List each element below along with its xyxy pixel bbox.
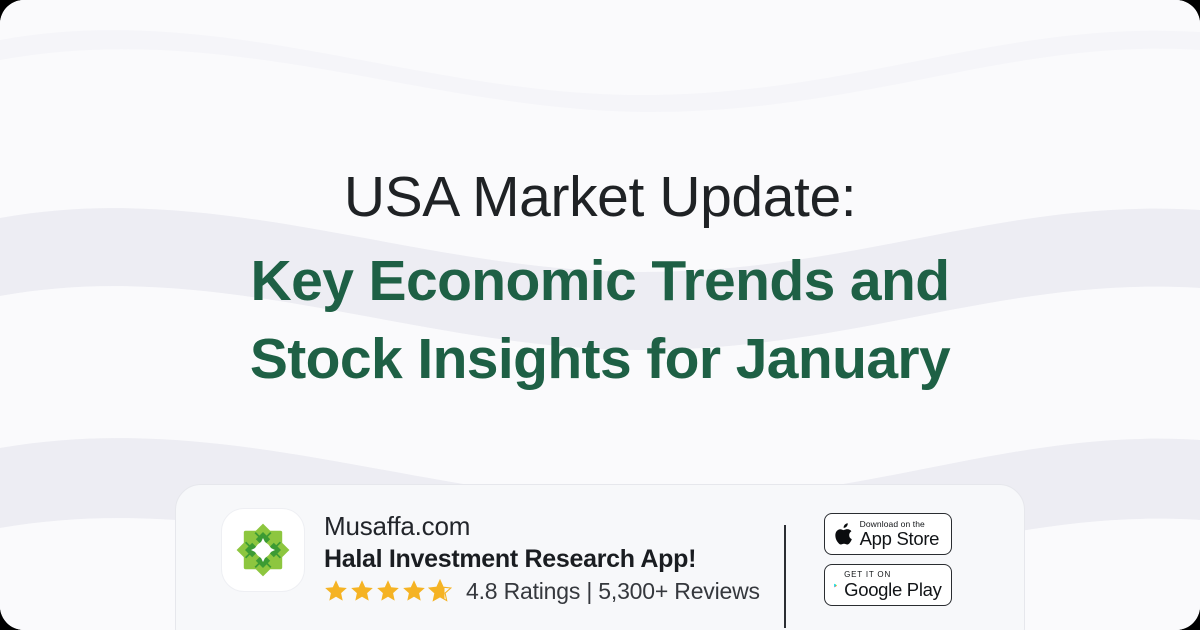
google-play-badge-text: GET IT ON Google Play bbox=[844, 571, 941, 599]
rating-row: 4.8 Ratings | 5,300+ Reviews bbox=[324, 578, 760, 605]
star-rating-icon bbox=[324, 579, 457, 604]
headline-line-1: USA Market Update: bbox=[100, 166, 1100, 230]
app-promo-card: Musaffa.com Halal Investment Research Ap… bbox=[175, 484, 1025, 630]
google-play-badge-big: Google Play bbox=[844, 581, 941, 600]
promo-banner: USA Market Update: Key Economic Trends a… bbox=[0, 0, 1200, 630]
brand-text-block: Musaffa.com Halal Investment Research Ap… bbox=[324, 509, 760, 605]
app-store-badge[interactable]: Download on the App Store bbox=[824, 513, 952, 555]
headline-block: USA Market Update: Key Economic Trends a… bbox=[0, 166, 1200, 399]
brand-name: Musaffa.com bbox=[324, 511, 760, 542]
store-badges: Download on the App Store GET IT ON Goog… bbox=[786, 509, 952, 606]
app-logo-tile bbox=[222, 509, 304, 591]
app-store-badge-small: Download on the bbox=[860, 520, 940, 529]
google-play-badge-small: GET IT ON bbox=[844, 571, 941, 579]
headline-emphasis: Key Economic Trends and Stock Insights f… bbox=[200, 242, 1000, 399]
brand-section: Musaffa.com Halal Investment Research Ap… bbox=[176, 509, 784, 605]
google-play-icon bbox=[834, 574, 838, 597]
google-play-badge[interactable]: GET IT ON Google Play bbox=[824, 564, 952, 606]
brand-tagline: Halal Investment Research App! bbox=[324, 544, 760, 574]
app-store-badge-text: Download on the App Store bbox=[860, 520, 940, 549]
app-store-badge-big: App Store bbox=[860, 530, 940, 549]
musaffa-star-logo bbox=[233, 520, 293, 580]
rating-text: 4.8 Ratings | 5,300+ Reviews bbox=[466, 578, 760, 605]
apple-logo-icon bbox=[834, 523, 853, 546]
